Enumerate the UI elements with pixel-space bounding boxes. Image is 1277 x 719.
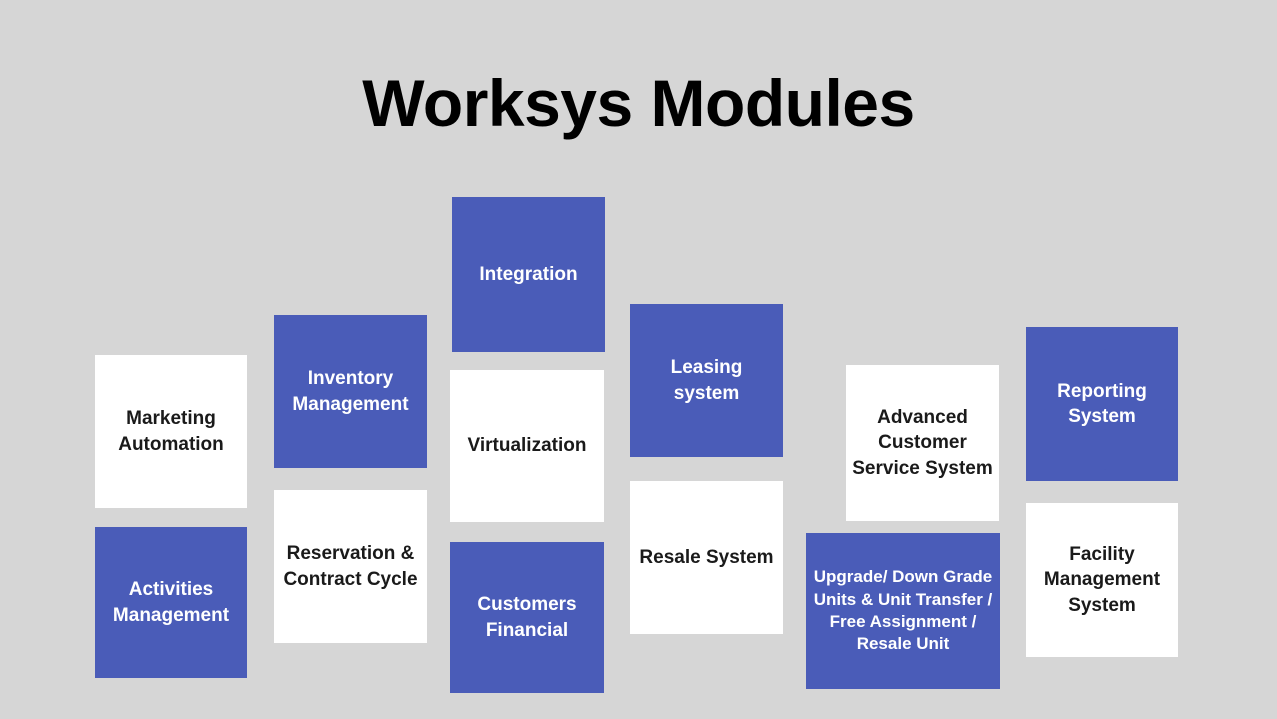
module-label: Resale System xyxy=(636,545,777,570)
page-title: Worksys Modules xyxy=(0,66,1277,142)
module-box[interactable]: Resale System xyxy=(630,481,783,634)
module-label: Integration xyxy=(458,262,599,287)
module-box[interactable]: Virtualization xyxy=(450,370,604,522)
module-label: Virtualization xyxy=(456,433,598,458)
module-box[interactable]: Marketing Automation xyxy=(95,355,247,508)
module-box[interactable]: Customers Financial xyxy=(450,542,604,693)
module-box[interactable]: Reporting System xyxy=(1026,327,1178,481)
module-label: Customers Financial xyxy=(456,592,598,642)
module-label: Reporting System xyxy=(1032,379,1172,429)
module-box[interactable]: Leasing system xyxy=(630,304,783,457)
module-label: Leasing system xyxy=(636,355,777,405)
module-label: Facility Management System xyxy=(1032,542,1172,617)
module-box[interactable]: Advanced Customer Service System xyxy=(846,365,999,521)
module-box[interactable]: Upgrade/ Down Grade Units & Unit Transfe… xyxy=(806,533,1000,689)
module-label: Marketing Automation xyxy=(101,406,241,456)
module-box[interactable]: Integration xyxy=(452,197,605,352)
module-box[interactable]: Activities Management xyxy=(95,527,247,678)
module-label: Advanced Customer Service System xyxy=(852,405,993,480)
module-box[interactable]: Reservation & Contract Cycle xyxy=(274,490,427,643)
module-label: Upgrade/ Down Grade Units & Unit Transfe… xyxy=(812,566,994,656)
module-label: Reservation & Contract Cycle xyxy=(280,541,421,591)
module-box[interactable]: Inventory Management xyxy=(274,315,427,468)
module-label: Inventory Management xyxy=(280,366,421,416)
module-box[interactable]: Facility Management System xyxy=(1026,503,1178,657)
module-label: Activities Management xyxy=(101,577,241,627)
slide-canvas: Worksys Modules Marketing AutomationActi… xyxy=(0,0,1277,719)
